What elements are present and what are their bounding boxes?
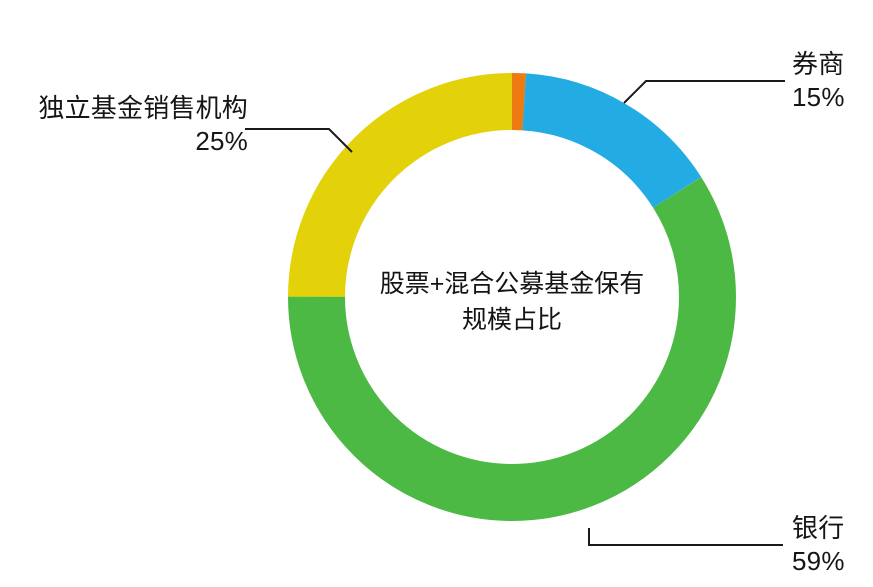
- callout-brokerage-value: 15%: [792, 81, 845, 114]
- callout-bank-value: 59%: [792, 545, 845, 578]
- leader-line-bank: [589, 528, 783, 545]
- donut-center-label-line1: 股票+混合公募基金保有: [340, 266, 684, 302]
- callout-brokerage-label: 券商: [792, 48, 845, 81]
- callout-bank-label: 银行: [792, 512, 845, 545]
- callout-brokerage: 券商 15%: [792, 48, 845, 115]
- callout-independent-label: 独立基金销售机构: [8, 92, 248, 125]
- leader-line-independent: [245, 129, 352, 152]
- donut-center-label-line2: 规模占比: [340, 302, 684, 338]
- callout-bank: 银行 59%: [792, 512, 845, 579]
- donut-chart: 独立基金销售机构 25% 券商 15% 银行 59% 股票+混合公募基金保有 规…: [0, 0, 873, 587]
- callout-independent: 独立基金销售机构 25%: [8, 92, 248, 159]
- callout-independent-value: 25%: [8, 125, 248, 158]
- donut-center-label: 股票+混合公募基金保有 规模占比: [340, 266, 684, 339]
- leader-line-brokerage: [624, 81, 785, 103]
